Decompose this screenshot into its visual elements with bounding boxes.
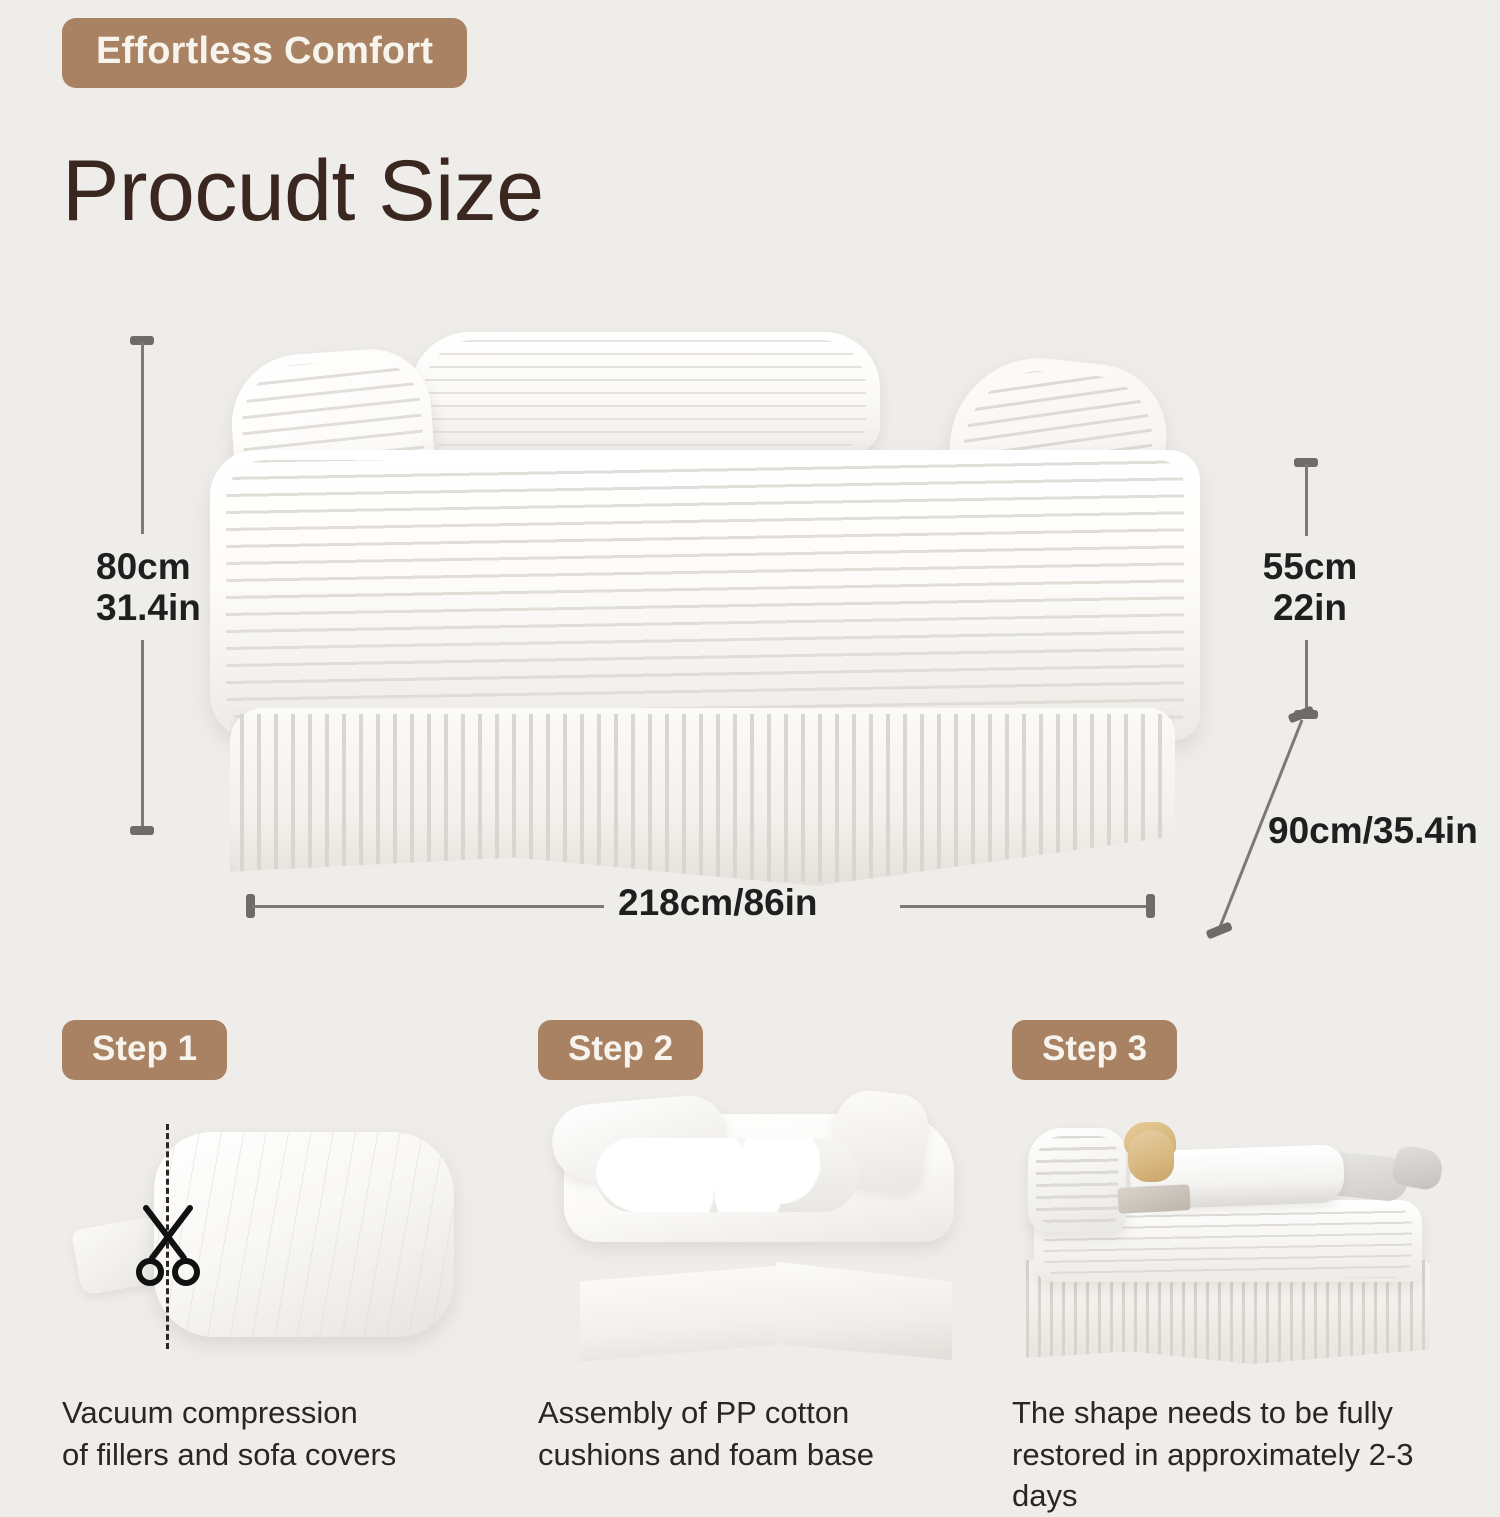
step-2-badge: Step 2 bbox=[538, 1020, 703, 1080]
step-1-illustration bbox=[62, 1114, 502, 1364]
sofa-base-skirt bbox=[230, 708, 1175, 886]
height-dimension-label: 80cm 31.4in bbox=[96, 546, 188, 629]
step-2-illustration bbox=[538, 1114, 978, 1364]
sofa-seat-cushion bbox=[210, 450, 1200, 740]
person-shoe bbox=[1391, 1144, 1445, 1192]
magazine bbox=[1117, 1184, 1190, 1214]
foam-base-left-section bbox=[580, 1266, 776, 1362]
step-1-column: Step 1 Vacuum compression of fillers and… bbox=[62, 1020, 522, 1475]
sofa-product-image bbox=[195, 300, 1265, 920]
step-3-column: Step 3 The shape needs to be fully resto… bbox=[1012, 1020, 1472, 1517]
width-dimension-cap-right bbox=[1146, 894, 1155, 918]
arm-height-dimension-cm: 55cm bbox=[1263, 546, 1358, 587]
sofa-backrest bbox=[410, 332, 880, 452]
height-dimension-cap-bottom bbox=[130, 826, 154, 835]
step-1-caption: Vacuum compression of fillers and sofa c… bbox=[62, 1392, 522, 1475]
step-3-badge: Step 3 bbox=[1012, 1020, 1177, 1080]
arm-height-dimension-line-upper bbox=[1305, 464, 1308, 536]
person-head bbox=[1128, 1130, 1174, 1182]
foam-base-right-section bbox=[776, 1262, 952, 1360]
restored-sofa-armrest bbox=[1028, 1128, 1126, 1232]
arm-height-dimension-in: 22in bbox=[1273, 587, 1347, 628]
height-dimension-line-lower bbox=[141, 640, 144, 828]
step-2-column: Step 2 Assembly of PP cotton cushions an… bbox=[538, 1020, 998, 1475]
eyebrow-badge: Effortless Comfort bbox=[62, 18, 467, 88]
depth-dimension-label: 90cm/35.4in bbox=[1268, 810, 1478, 851]
height-dimension-line-upper bbox=[141, 342, 144, 534]
scissors-icon bbox=[130, 1202, 206, 1288]
step-3-caption: The shape needs to be fully restored in … bbox=[1012, 1392, 1472, 1517]
height-dimension-in: 31.4in bbox=[96, 587, 201, 628]
width-dimension-line-right bbox=[900, 905, 1152, 908]
product-dimension-diagram: 80cm 31.4in 55cm 22in 90cm/35.4in 218cm/… bbox=[0, 280, 1500, 960]
height-dimension-cm: 80cm bbox=[96, 546, 191, 587]
width-dimension-line-left bbox=[252, 905, 604, 908]
page-title: Procudt Size bbox=[62, 148, 544, 234]
step-2-caption: Assembly of PP cotton cushions and foam … bbox=[538, 1392, 998, 1475]
step-3-illustration bbox=[1012, 1114, 1452, 1364]
arm-height-dimension-label: 55cm 22in bbox=[1262, 546, 1358, 629]
assembly-steps-section: Step 1 Vacuum compression of fillers and… bbox=[0, 1020, 1500, 1500]
cushion-tufting bbox=[596, 1138, 858, 1212]
step-1-badge: Step 1 bbox=[62, 1020, 227, 1080]
width-dimension-label: 218cm/86in bbox=[618, 882, 818, 923]
